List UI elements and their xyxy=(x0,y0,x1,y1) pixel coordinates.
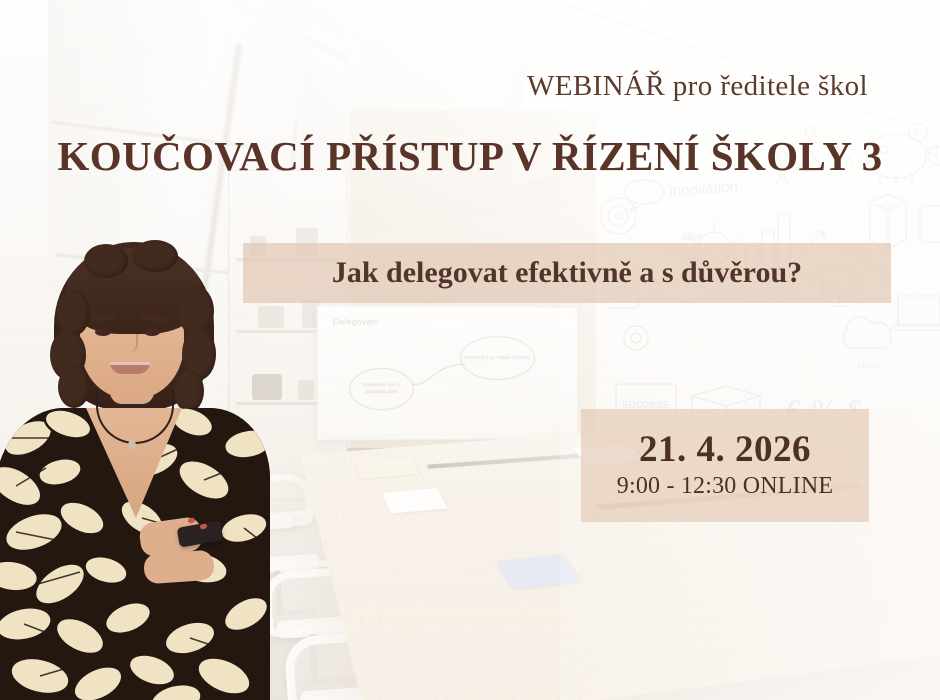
poster-text-layer: WEBINÁŘ pro ředitele škol KOUČOVACÍ PŘÍS… xyxy=(0,0,940,700)
subtitle-text: Jak delegovat efektivně a s důvěrou? xyxy=(243,243,891,303)
webinar-poster: Delegování Delegování není o předávání ú… xyxy=(0,0,940,700)
kicker-text: WEBINÁŘ pro ředitele škol xyxy=(527,70,868,103)
event-time: 9:00 - 12:30 ONLINE xyxy=(617,472,833,501)
date-info: 21. 4. 2026 9:00 - 12:30 ONLINE xyxy=(581,409,869,522)
event-date: 21. 4. 2026 xyxy=(639,431,811,470)
page-title: KOUČOVACÍ PŘÍSTUP V ŘÍZENÍ ŠKOLY 3 xyxy=(0,132,940,180)
